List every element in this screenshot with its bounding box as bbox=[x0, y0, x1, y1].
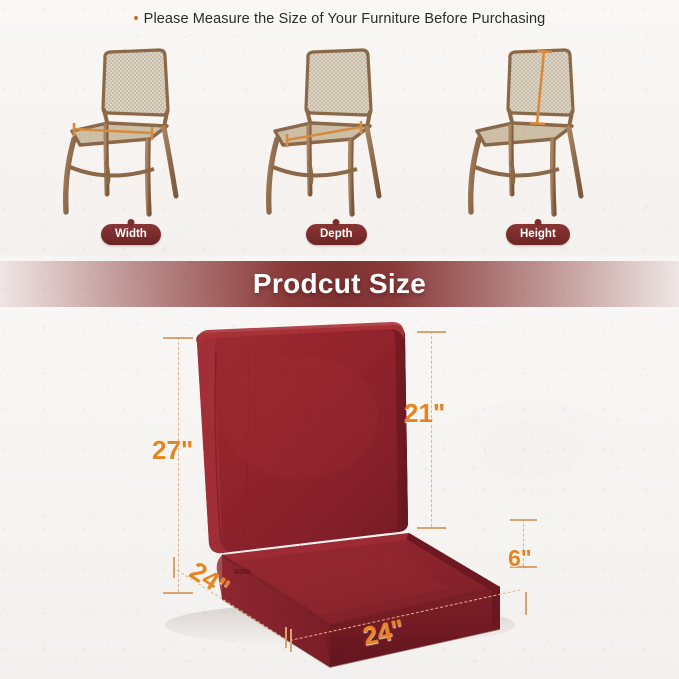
dimension-label-overall-height: 27" bbox=[152, 435, 193, 466]
badge-depth-label: Depth bbox=[320, 228, 353, 240]
chair-row bbox=[0, 44, 679, 219]
dimension-cap-top-21 bbox=[417, 331, 446, 333]
badge-nub-icon bbox=[534, 219, 541, 226]
chair-width-illustration bbox=[36, 44, 236, 219]
banner-title: Prodcut Size bbox=[0, 261, 679, 307]
dimension-cap-top-27 bbox=[163, 337, 193, 339]
product-size-section: 27" 21" 6 Inches 6" 24" 24" bbox=[0, 307, 679, 679]
dimension-cap-left-24d bbox=[173, 557, 175, 578]
dimension-cap-right-24d bbox=[285, 627, 287, 648]
chair-depth-illustration bbox=[239, 44, 439, 219]
section-banner: Prodcut Size bbox=[0, 261, 679, 307]
badge-nub-icon bbox=[333, 219, 340, 226]
badge-depth: Depth bbox=[306, 224, 367, 245]
badge-width: Width bbox=[101, 224, 161, 245]
dimension-cap-top-6 bbox=[510, 519, 537, 521]
badge-width-label: Width bbox=[115, 228, 147, 240]
dimension-label-seat-width: 24" bbox=[360, 613, 407, 652]
dimension-line-back-height bbox=[431, 331, 432, 527]
badge-height-label: Height bbox=[520, 228, 556, 240]
badge-nub-icon bbox=[127, 219, 134, 226]
badge-height: Height bbox=[506, 224, 570, 245]
page-title-text: Please Measure the Size of Your Furnitur… bbox=[144, 11, 546, 27]
dimension-label-back-height: 21" bbox=[404, 398, 445, 429]
dimension-label-seat-depth: 24" bbox=[184, 555, 235, 603]
infographic-page: Please Measure the Size of Your Furnitur… bbox=[0, 0, 679, 679]
dimension-label-seat-thickness: 6" bbox=[508, 545, 532, 572]
chair-height-illustration bbox=[441, 44, 641, 219]
dimension-cap-bottom-21 bbox=[417, 527, 446, 529]
bullet-dot bbox=[134, 16, 138, 20]
top-section: Please Measure the Size of Your Furnitur… bbox=[0, 0, 679, 256]
page-title: Please Measure the Size of Your Furnitur… bbox=[0, 11, 679, 27]
dimension-group-seat-depth: 24" bbox=[165, 537, 340, 657]
dimension-cap-right-24w bbox=[525, 592, 527, 615]
